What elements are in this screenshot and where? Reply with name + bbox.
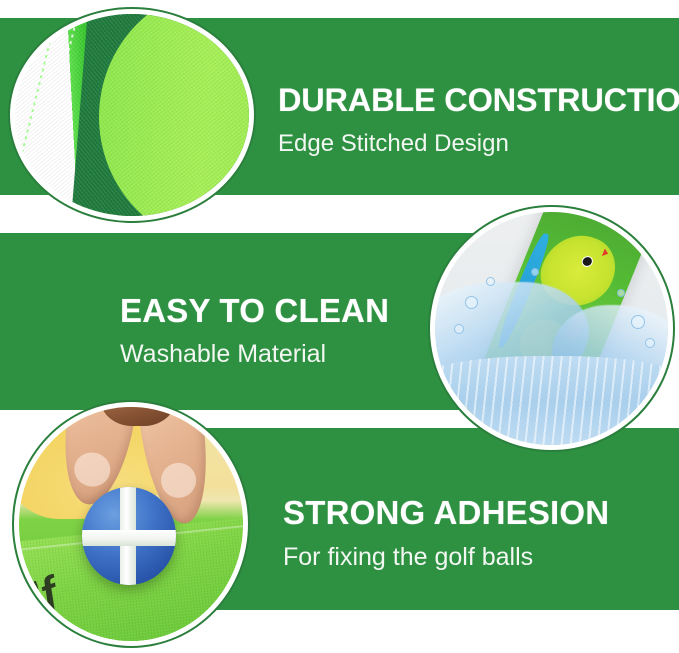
ball-alignment-band-horizontal [82,530,176,547]
photo-clip [435,212,668,445]
photo-clip: ’ƒ [19,407,243,641]
feature-text-durable-construction: DURABLE CONSTRUCTION Edge Stitched Desig… [278,84,679,156]
water-droplet [531,268,539,276]
golf-ball [82,487,176,585]
feature-photo-circle-easy-to-clean [428,205,675,452]
water-droplet [617,289,625,297]
photo-clip [15,14,249,216]
feature-photo-circle-durable-construction [8,7,256,223]
water-droplet [645,338,655,348]
photo-fabric-stitched-edge [15,14,249,216]
product-feature-infographic: DURABLE CONSTRUCTION Edge Stitched Desig… [0,0,679,653]
index-finger-nail [159,461,199,500]
water-droplet [454,324,464,334]
feature-subtitle-easy-to-clean: Washable Material [120,342,389,367]
photo-mat-in-water-splash [435,212,668,445]
feature-photo-circle-strong-adhesion: ’ƒ [12,400,250,648]
water-droplet [631,315,645,329]
feature-subtitle-strong-adhesion: For fixing the golf balls [283,545,609,570]
fabric-weave-texture [15,14,249,216]
water-pool-surface [435,356,668,445]
feature-headline-durable-construction: DURABLE CONSTRUCTION [278,84,679,117]
thumb-nail [71,450,112,489]
feature-text-strong-adhesion: STRONG ADHESION For fixing the golf ball… [283,496,609,570]
feature-headline-strong-adhesion: STRONG ADHESION [283,496,609,529]
photo-hand-placing-golf-ball: ’ƒ [19,407,243,641]
feature-subtitle-durable-construction: Edge Stitched Design [278,132,679,156]
feature-text-easy-to-clean: EASY TO CLEAN Washable Material [120,294,389,367]
feature-headline-easy-to-clean: EASY TO CLEAN [120,294,389,327]
